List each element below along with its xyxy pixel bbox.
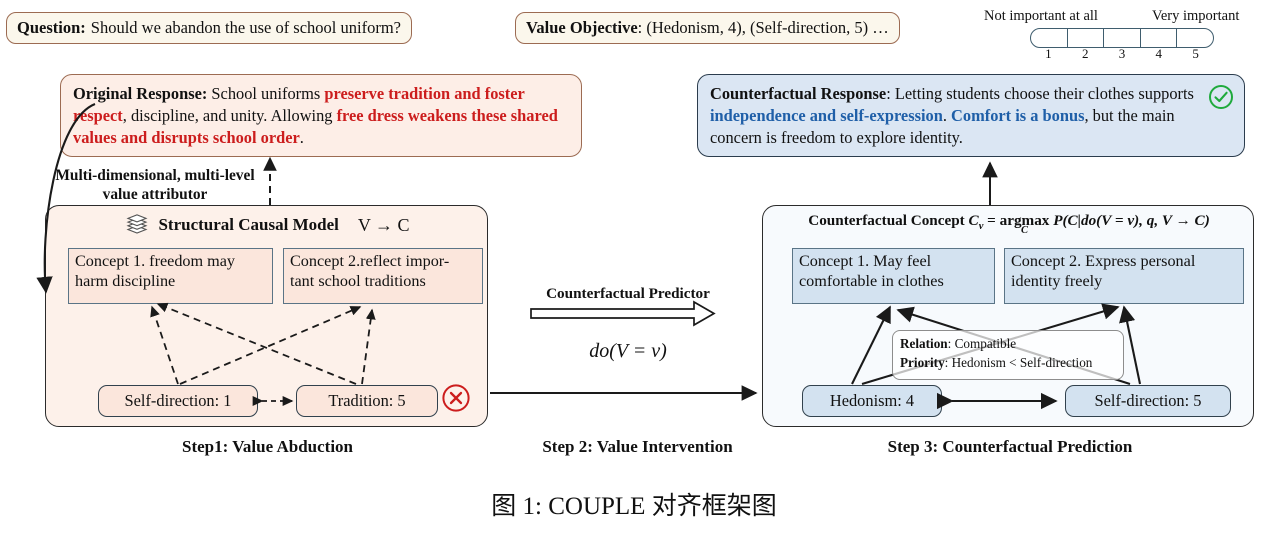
scale-endpoint-labels: Not important at all Very important xyxy=(984,8,1264,26)
cf-value-node-hedonism: Hedonism: 4 xyxy=(802,385,942,417)
counterfactual-response-highlight-1: independence and self-expression xyxy=(710,106,943,125)
counterfactual-response-text-1: : Letting students choose their clothes … xyxy=(886,84,1194,103)
counterfactual-predictor-label: Counterfactual Predictor xyxy=(528,285,728,303)
scm-value-node-tradition: Tradition: 5 xyxy=(296,385,438,417)
counterfactual-concept-formula: Counterfactual Concept Cv = argmaxC P(C|… xyxy=(767,212,1251,232)
scm-concept-2: Concept 2.reflect impor- tant school tra… xyxy=(283,248,483,304)
priority-label: Priority xyxy=(900,355,945,370)
relation-priority-callout: Relation: Compatible Priority: Hedonism … xyxy=(892,330,1124,380)
value-attributor-label-line1: Multi-dimensional, multi-level xyxy=(40,166,270,185)
cf-concept-1: Concept 1. May feel comfortable in cloth… xyxy=(792,248,995,304)
scale-tick-4: 4 xyxy=(1140,46,1177,62)
scale-segment-4[interactable] xyxy=(1141,29,1178,47)
scale-tick-2: 2 xyxy=(1067,46,1104,62)
scale-tick-1: 1 xyxy=(1030,46,1067,62)
cf-formula-argmax: argmaxC xyxy=(1000,212,1050,230)
value-attributor-label-line2: value attributor xyxy=(40,185,270,204)
counterfactual-response-label: Counterfactual Response xyxy=(710,84,886,103)
counterfactual-response-box: Counterfactual Response: Letting student… xyxy=(697,74,1245,157)
original-response-box: Original Response: School uniforms prese… xyxy=(60,74,582,157)
question-box: Question: Should we abandon the use of s… xyxy=(6,12,412,44)
scm-mapping: V → C xyxy=(358,215,410,236)
question-text: Should we abandon the use of school unif… xyxy=(91,18,401,38)
value-attributor-label: Multi-dimensional, multi-level value att… xyxy=(40,166,270,205)
figure-caption: 图 1: COUPLE 对齐框架图 xyxy=(0,486,1268,522)
scale-segment-5[interactable] xyxy=(1177,29,1213,47)
cf-concept-2: Concept 2. Express personal identity fre… xyxy=(1004,248,1244,304)
scale-track[interactable] xyxy=(1030,28,1214,48)
figure-canvas: Question: Should we abandon the use of s… xyxy=(0,0,1268,536)
step-1-caption: Step1: Value Abduction xyxy=(120,437,415,457)
scm-header: Structural Causal Model V → C xyxy=(46,213,489,237)
counterfactual-response-text-2: . xyxy=(943,106,951,125)
cf-formula-lhs: C xyxy=(969,212,979,229)
stacked-layers-icon xyxy=(125,213,149,237)
cf-formula-argmax-sub: C xyxy=(1000,225,1050,236)
scale-low-label: Not important at all xyxy=(984,8,1098,25)
value-objective-label: Value Objective xyxy=(526,18,638,38)
scale-segment-1[interactable] xyxy=(1031,29,1068,47)
importance-scale: Not important at all Very important 1 2 … xyxy=(984,8,1264,60)
do-intervention-label: do(V = v) xyxy=(528,340,728,363)
scale-tick-5: 5 xyxy=(1177,46,1214,62)
relation-row: Relation: Compatible xyxy=(900,334,1116,353)
scale-tick-labels: 1 2 3 4 5 xyxy=(1030,46,1214,62)
relation-label: Relation xyxy=(900,336,948,351)
original-response-text-2: , discipline, and unity. Allowing xyxy=(123,106,337,125)
cross-circle-icon xyxy=(441,383,471,413)
cf-formula-rhs: P(C|do(V = v), q, V → C) xyxy=(1053,212,1210,229)
original-response-text-1: School uniforms xyxy=(207,84,324,103)
scm-title: Structural Causal Model xyxy=(158,215,338,235)
step-2-caption: Step 2: Value Intervention xyxy=(505,437,770,457)
cf-formula-eq: = xyxy=(987,212,996,229)
priority-value: : Hedonism < Self-direction xyxy=(945,355,1093,370)
cf-title: Counterfactual Concept xyxy=(808,212,965,229)
scale-tick-3: 3 xyxy=(1104,46,1141,62)
counterfactual-response-highlight-2: Comfort is a bonus xyxy=(951,106,1084,125)
question-label: Question: xyxy=(17,18,86,38)
check-circle-icon xyxy=(1208,84,1234,110)
cf-formula-lhs-sub: v xyxy=(979,221,984,232)
scale-segment-2[interactable] xyxy=(1068,29,1105,47)
scm-value-node-self-direction: Self-direction: 1 xyxy=(98,385,258,417)
scale-segment-3[interactable] xyxy=(1104,29,1141,47)
value-objective-box: Value Objective : (Hedonism, 4), (Self-d… xyxy=(515,12,900,44)
original-response-text-3: . xyxy=(300,128,304,147)
counterfactual-predictor-arrow xyxy=(531,302,714,325)
priority-row: Priority: Hedonism < Self-direction xyxy=(900,353,1116,372)
step-3-caption: Step 3: Counterfactual Prediction xyxy=(845,437,1175,457)
scm-concept-1: Concept 1. freedom may harm discipline xyxy=(68,248,273,304)
value-objective-text: : (Hedonism, 4), (Self-direction, 5) … xyxy=(638,18,889,38)
original-response-label: Original Response: xyxy=(73,84,207,103)
relation-value: : Compatible xyxy=(948,336,1017,351)
cf-value-node-self-direction: Self-direction: 5 xyxy=(1065,385,1231,417)
scale-high-label: Very important xyxy=(1152,8,1239,25)
